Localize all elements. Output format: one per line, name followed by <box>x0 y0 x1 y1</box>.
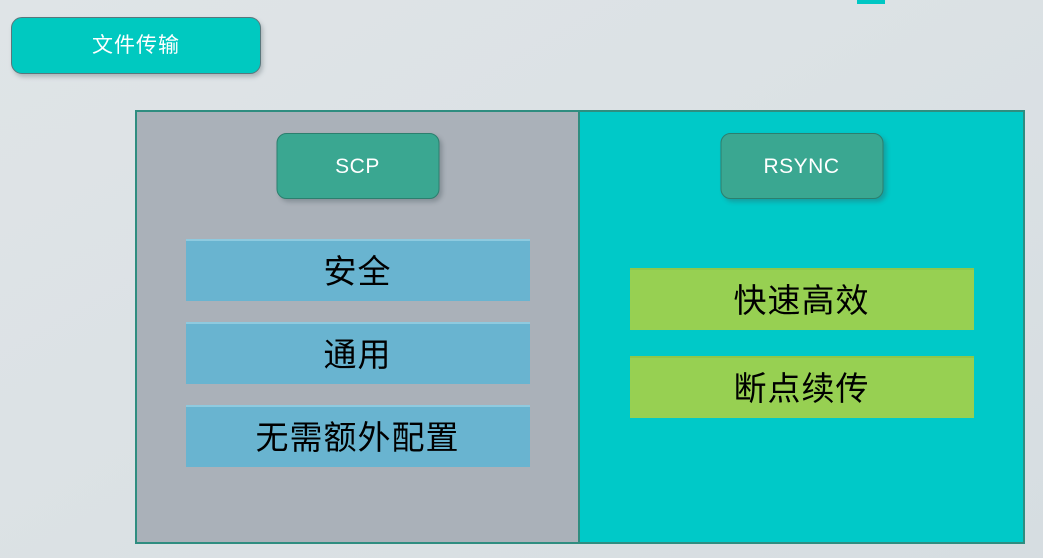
panel-scp: SCP 安全 通用 无需额外配置 <box>137 112 580 542</box>
feature-item-scp-1[interactable]: 通用 <box>186 322 530 384</box>
feature-item-rsync-1[interactable]: 断点续传 <box>630 356 974 418</box>
feature-item-scp-0[interactable]: 安全 <box>186 239 530 301</box>
feature-item-scp-2[interactable]: 无需额外配置 <box>186 405 530 467</box>
node-button-rsync[interactable]: RSYNC <box>720 133 883 199</box>
title-pill-file-transfer[interactable]: 文件传输 <box>11 17 261 74</box>
node-button-scp[interactable]: SCP <box>276 133 439 199</box>
feature-label: 通用 <box>324 338 392 371</box>
feature-label: 快速高效 <box>734 284 870 317</box>
comparison-panels: SCP 安全 通用 无需额外配置 RSYNC 快速高效 断点续传 <box>135 110 1025 544</box>
panel-rsync: RSYNC 快速高效 断点续传 <box>580 112 1023 542</box>
title-pill-label: 文件传输 <box>92 35 180 56</box>
node-button-scp-label: SCP <box>335 156 380 177</box>
node-button-rsync-label: RSYNC <box>763 156 839 177</box>
feature-item-rsync-0[interactable]: 快速高效 <box>630 268 974 330</box>
clipped-shape-sliver <box>857 0 885 4</box>
feature-label: 断点续传 <box>734 372 870 405</box>
feature-label: 无需额外配置 <box>256 421 460 454</box>
feature-label: 安全 <box>324 255 392 288</box>
